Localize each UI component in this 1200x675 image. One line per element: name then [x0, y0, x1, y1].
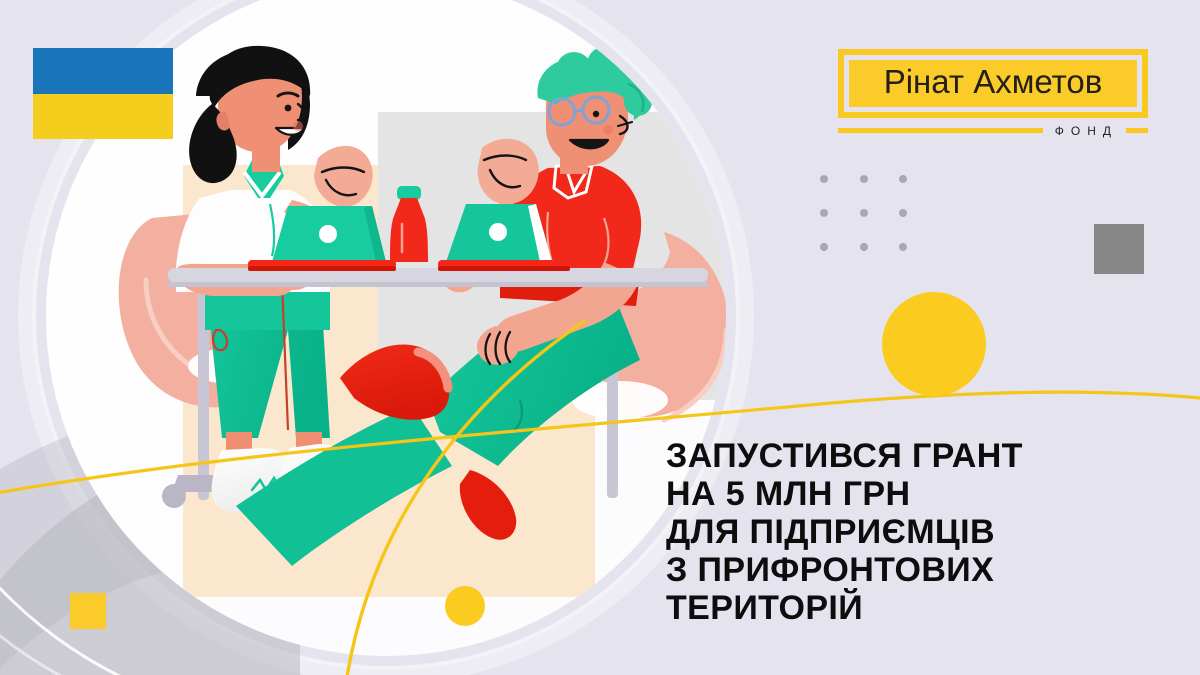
logo-subtitle-row: ФОНД	[838, 124, 1148, 138]
ukraine-flag	[33, 48, 173, 139]
flag-band-yellow	[33, 94, 173, 140]
logo-rule-left	[838, 128, 1043, 133]
logo-name: Рінат Ахметов	[863, 65, 1123, 100]
headline: ЗАПУСТИВСЯ ГРАНТ НА 5 МЛН ГРН ДЛЯ ПІДПРИ…	[666, 437, 1186, 627]
yellow-circle-large	[882, 292, 986, 396]
headline-line-2: НА 5 МЛН ГРН	[666, 475, 1186, 513]
logo-inner: Рінат Ахметов	[849, 60, 1137, 107]
poster-canvas: Рінат Ахметов ФОНД ЗАПУСТИВСЯ ГРАНТ НА 5…	[0, 0, 1200, 675]
flag-band-blue	[33, 48, 173, 94]
yellow-square	[70, 593, 106, 629]
headline-line-4: З ПРИФРОНТОВИХ	[666, 551, 1186, 589]
logo-rule-right	[1126, 128, 1148, 133]
logo-subtitle: ФОНД	[1051, 124, 1118, 138]
foundation-logo[interactable]: Рінат Ахметов ФОНД	[838, 49, 1148, 138]
headline-line-1: ЗАПУСТИВСЯ ГРАНТ	[666, 437, 1186, 475]
logo-frame: Рінат Ахметов	[838, 49, 1148, 118]
yellow-circle-small	[445, 586, 485, 626]
headline-line-5: ТЕРИТОРІЙ	[666, 589, 1186, 627]
headline-line-3: ДЛЯ ПІДПРИЄМЦІВ	[666, 513, 1186, 551]
